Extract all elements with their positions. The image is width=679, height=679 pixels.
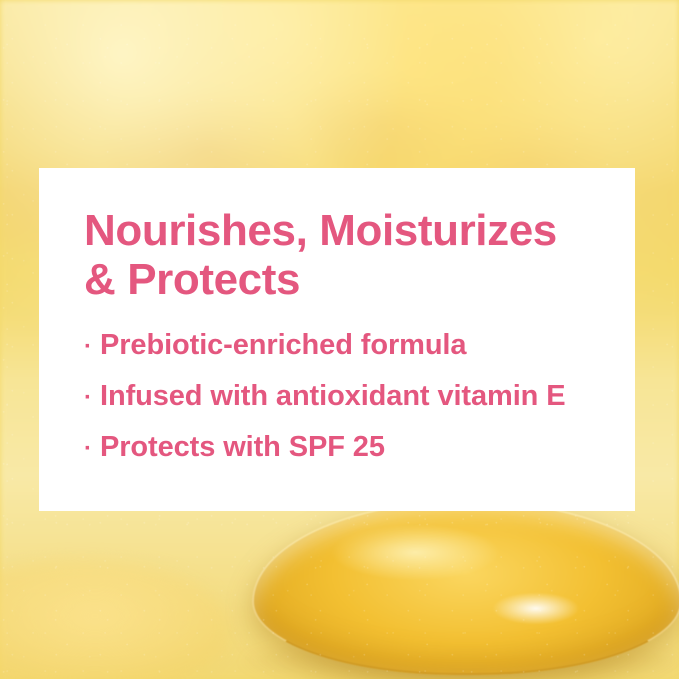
benefit-list: · Prebiotic-enriched formula · Infused w… (84, 331, 605, 462)
text-panel: Nourishes, Moisturizes & Protects · Preb… (39, 168, 635, 511)
bullet-dot-icon: · (84, 386, 100, 410)
bullet-dot-icon: · (84, 437, 100, 461)
list-item-label: Prebiotic-enriched formula (100, 331, 605, 360)
list-item-label: Protects with SPF 25 (100, 433, 605, 462)
list-item: · Infused with antioxidant vitamin E (84, 382, 605, 411)
product-marketing-image: Nourishes, Moisturizes & Protects · Preb… (0, 0, 679, 679)
headline: Nourishes, Moisturizes & Protects (84, 206, 605, 305)
list-item: · Protects with SPF 25 (84, 433, 605, 462)
list-item: · Prebiotic-enriched formula (84, 331, 605, 360)
list-item-label: Infused with antioxidant vitamin E (100, 382, 605, 411)
bullet-dot-icon: · (84, 335, 100, 359)
